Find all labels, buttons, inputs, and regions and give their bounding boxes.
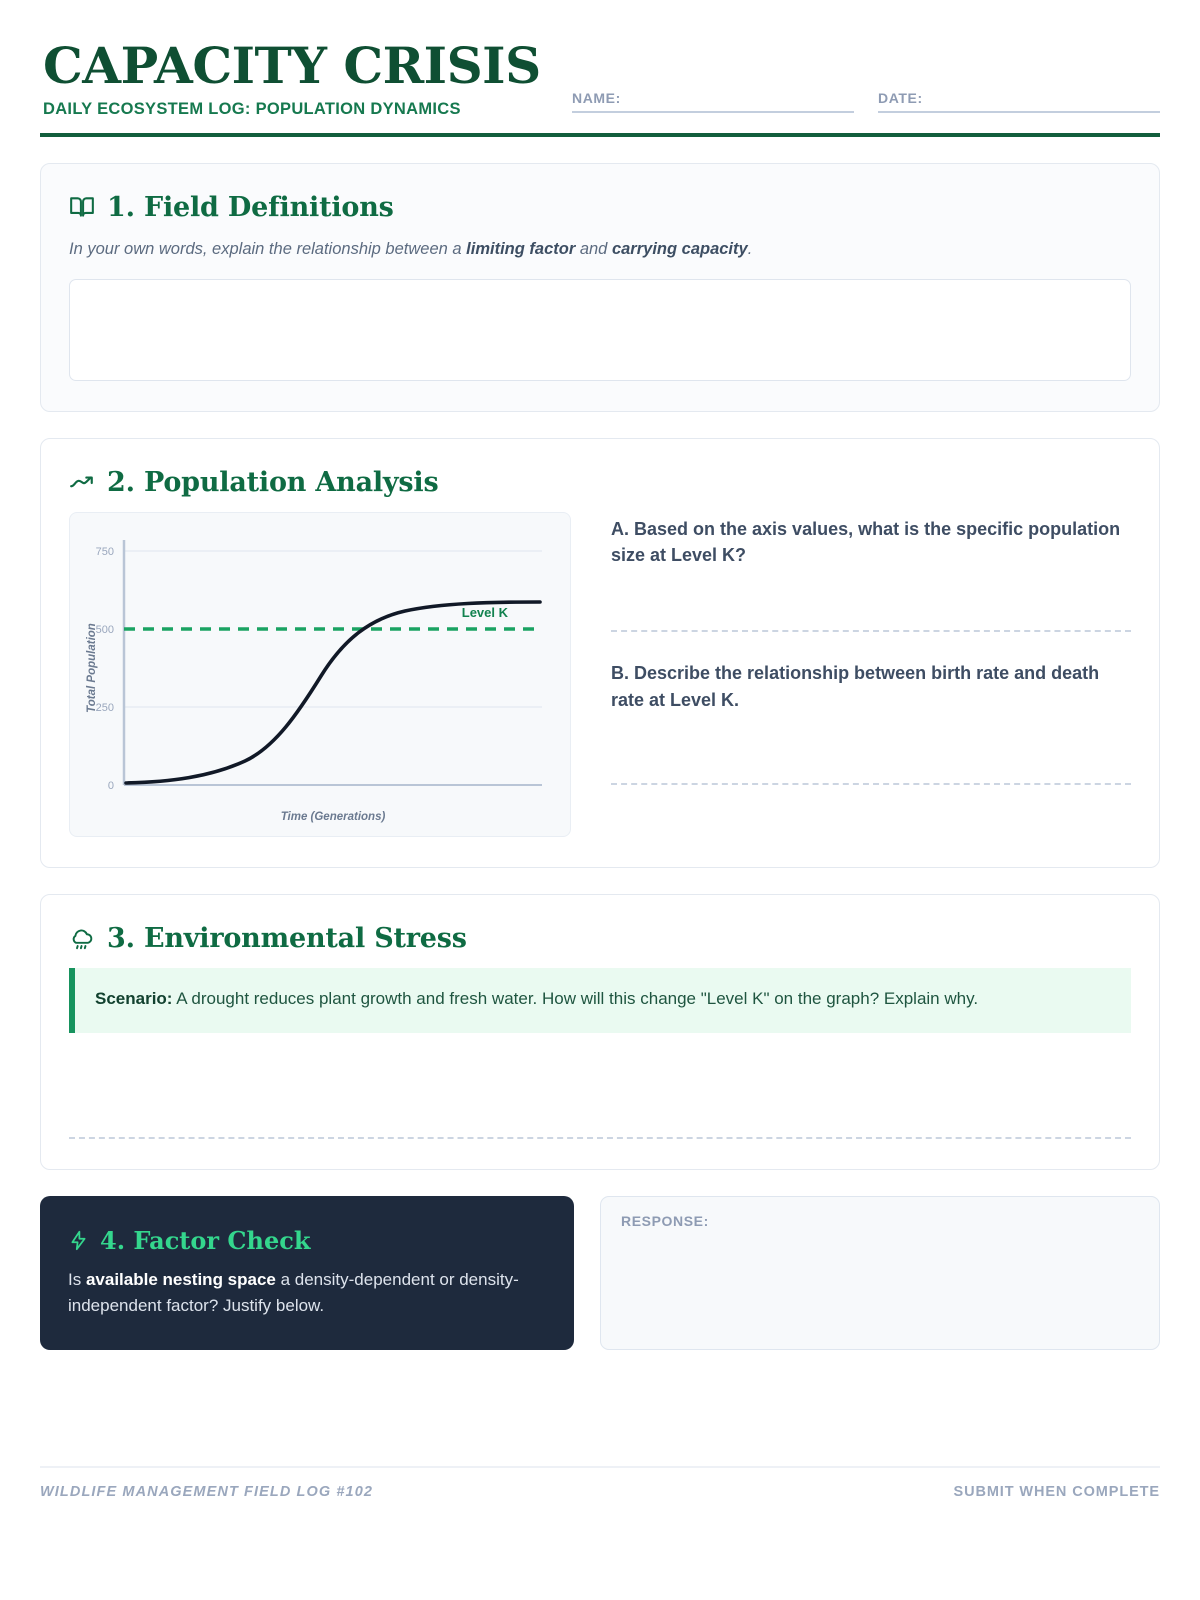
section4-header: 4. Factor Check	[68, 1226, 546, 1255]
x-axis-title: Time (Generations)	[281, 811, 386, 823]
open-book-icon	[69, 194, 95, 220]
y-axis-title: Total Population	[86, 623, 98, 713]
section-factor-check: 4. Factor Check Is available nesting spa…	[40, 1196, 1160, 1351]
ytick-0: 0	[108, 780, 114, 792]
header-fields: NAME: DATE:	[572, 90, 1160, 119]
question-a-answer-line[interactable]	[611, 630, 1131, 632]
page-title: CAPACITY CRISIS	[43, 40, 541, 93]
name-field-label: NAME:	[572, 90, 854, 106]
worksheet-page: CAPACITY CRISIS DAILY ECOSYSTEM LOG: POP…	[0, 0, 1200, 1600]
date-field-group[interactable]: DATE:	[878, 90, 1160, 113]
response-label: RESPONSE:	[621, 1213, 1139, 1229]
population-growth-chart: 750 500 250 0 Total Population Level K T…	[69, 512, 571, 837]
prompt-text-3: .	[748, 240, 753, 258]
section4-title: 4. Factor Check	[100, 1226, 310, 1255]
field-definitions-answer-box[interactable]	[69, 279, 1131, 381]
scenario-callout: Scenario: A drought reduces plant growth…	[69, 968, 1131, 1032]
header-title-group: CAPACITY CRISIS DAILY ECOSYSTEM LOG: POP…	[40, 40, 541, 119]
page-subtitle: DAILY ECOSYSTEM LOG: POPULATION DYNAMICS	[43, 100, 541, 119]
trend-up-icon	[69, 470, 95, 496]
prompt-text-1: In your own words, explain the relations…	[69, 240, 466, 258]
section-environmental-stress: 3. Environmental Stress Scenario: A drou…	[40, 894, 1160, 1169]
section2-title: 2. Population Analysis	[107, 467, 438, 498]
section1-header: 1. Field Definitions	[69, 192, 1131, 223]
factor-bold-nesting-space: available nesting space	[86, 1270, 276, 1289]
footer-log-id: WILDLIFE MANAGEMENT FIELD LOG #102	[40, 1484, 373, 1500]
factor-check-card: 4. Factor Check Is available nesting spa…	[40, 1196, 574, 1351]
section3-title: 3. Environmental Stress	[107, 923, 467, 954]
section-population-analysis: 2. Population Analysis 750 500 250 0	[40, 438, 1160, 868]
lightning-bolt-icon	[68, 1230, 89, 1251]
date-field-label: DATE:	[878, 90, 1160, 106]
analysis-questions: A. Based on the axis values, what is the…	[611, 512, 1131, 837]
ytick-750: 750	[96, 546, 114, 558]
page-header: CAPACITY CRISIS DAILY ECOSYSTEM LOG: POP…	[40, 40, 1160, 137]
prompt-text-2: and	[575, 240, 612, 258]
name-input-line[interactable]	[572, 111, 854, 113]
environmental-stress-answer-area[interactable]	[69, 1033, 1131, 1137]
section-field-definitions: 1. Field Definitions In your own words, …	[40, 163, 1160, 413]
date-input-line[interactable]	[878, 111, 1160, 113]
question-b: B. Describe the relationship between bir…	[611, 660, 1131, 784]
name-field-group[interactable]: NAME:	[572, 90, 854, 113]
footer-submit-note: SUBMIT WHEN COMPLETE	[954, 1484, 1161, 1500]
section1-prompt: In your own words, explain the relations…	[69, 237, 1131, 262]
rain-cloud-icon	[69, 926, 95, 952]
question-a: A. Based on the axis values, what is the…	[611, 516, 1131, 632]
ytick-500: 500	[96, 624, 114, 636]
section3-header: 3. Environmental Stress	[69, 923, 1131, 954]
prompt-bold-carrying-capacity: carrying capacity	[612, 240, 748, 258]
factor-text-1: Is	[68, 1270, 86, 1289]
question-a-text: A. Based on the axis values, what is the…	[611, 516, 1131, 568]
question-b-text: B. Describe the relationship between bir…	[611, 660, 1131, 712]
ytick-250: 250	[96, 702, 114, 714]
analysis-row: 750 500 250 0 Total Population Level K T…	[69, 512, 1131, 837]
factor-check-question: Is available nesting space a density-dep…	[68, 1267, 546, 1321]
page-footer: WILDLIFE MANAGEMENT FIELD LOG #102 SUBMI…	[40, 1466, 1160, 1500]
section1-title: 1. Field Definitions	[107, 192, 394, 223]
prompt-bold-limiting-factor: limiting factor	[466, 240, 575, 258]
factor-check-response-box[interactable]: RESPONSE:	[600, 1196, 1160, 1351]
scenario-text: A drought reduces plant growth and fresh…	[172, 989, 978, 1008]
level-k-label: Level K	[462, 605, 509, 620]
section2-header: 2. Population Analysis	[69, 467, 1131, 498]
scenario-label: Scenario:	[95, 989, 172, 1008]
question-b-answer-line[interactable]	[611, 783, 1131, 785]
chart-svg: 750 500 250 0 Total Population Level K T…	[70, 513, 572, 838]
environmental-stress-answer-line[interactable]	[69, 1137, 1131, 1139]
